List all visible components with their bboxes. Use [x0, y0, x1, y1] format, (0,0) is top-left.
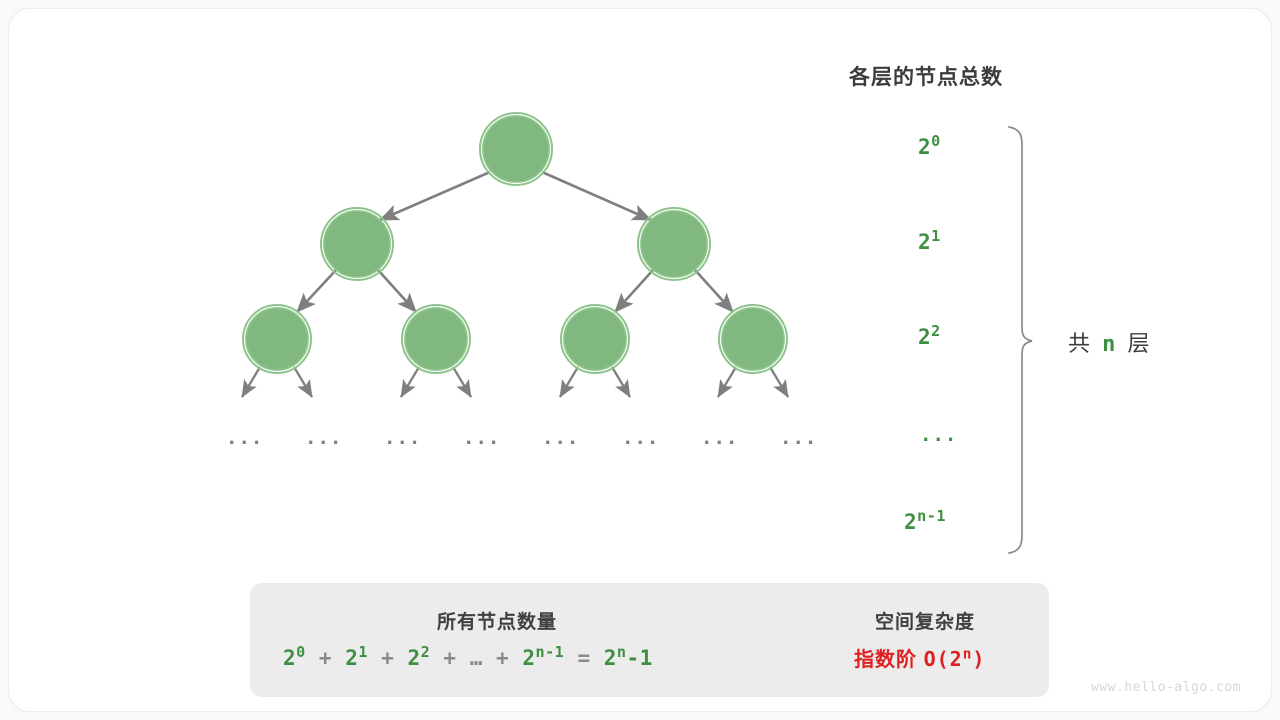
leaf-ellipsis: ··· — [701, 432, 738, 454]
leaf-ellipsis: ··· — [622, 432, 659, 454]
tree-node — [321, 208, 393, 280]
tree-node-root — [480, 113, 552, 185]
level-count-label-ellipsis: ··· — [920, 429, 957, 451]
level-count-label-2: 22 — [918, 325, 941, 349]
space-complexity-value: 指数阶 O(2n) — [854, 643, 985, 672]
leaf-ellipsis: ··· — [305, 432, 342, 454]
tree-node — [402, 305, 470, 373]
tree-node — [638, 208, 710, 280]
node-count-formula: 20 + 21 + 22 + … + 2n-1 = 2n-1 — [283, 646, 653, 670]
node-count-heading: 所有节点数量 — [437, 607, 557, 634]
tree-edges — [297, 172, 733, 312]
tree-node — [243, 305, 311, 373]
space-complexity-heading: 空间复杂度 — [875, 607, 975, 634]
leaf-ellipsis: ··· — [542, 432, 579, 454]
tree-nodes — [243, 113, 787, 373]
level-count-label-last: 2n-1 — [904, 510, 946, 534]
watermark: www.hello-algo.com — [1091, 680, 1241, 695]
tree-node — [719, 305, 787, 373]
tree-leaf-edges — [242, 367, 788, 397]
column-title: 各层的节点总数 — [849, 61, 1003, 91]
summary-box: 所有节点数量 20 + 21 + 22 + … + 2n-1 = 2n-1 空间… — [250, 583, 1049, 697]
tree-node — [561, 305, 629, 373]
leaf-ellipsis: ··· — [384, 432, 421, 454]
leaf-ellipsis: ··· — [463, 432, 500, 454]
levels-brace — [1009, 127, 1032, 553]
diagram-card: 各层的节点总数 20 21 22 ··· 2n-1 共 n 层 ··· ··· … — [8, 8, 1272, 712]
level-count-label-0: 20 — [918, 135, 941, 159]
diagram-canvas: 各层的节点总数 20 21 22 ··· 2n-1 共 n 层 ··· ··· … — [0, 0, 1280, 720]
leaf-ellipsis: ··· — [780, 432, 817, 454]
level-count-label-1: 21 — [918, 230, 941, 254]
total-levels-label: 共 n 层 — [1068, 326, 1153, 358]
leaf-ellipsis: ··· — [226, 432, 263, 454]
